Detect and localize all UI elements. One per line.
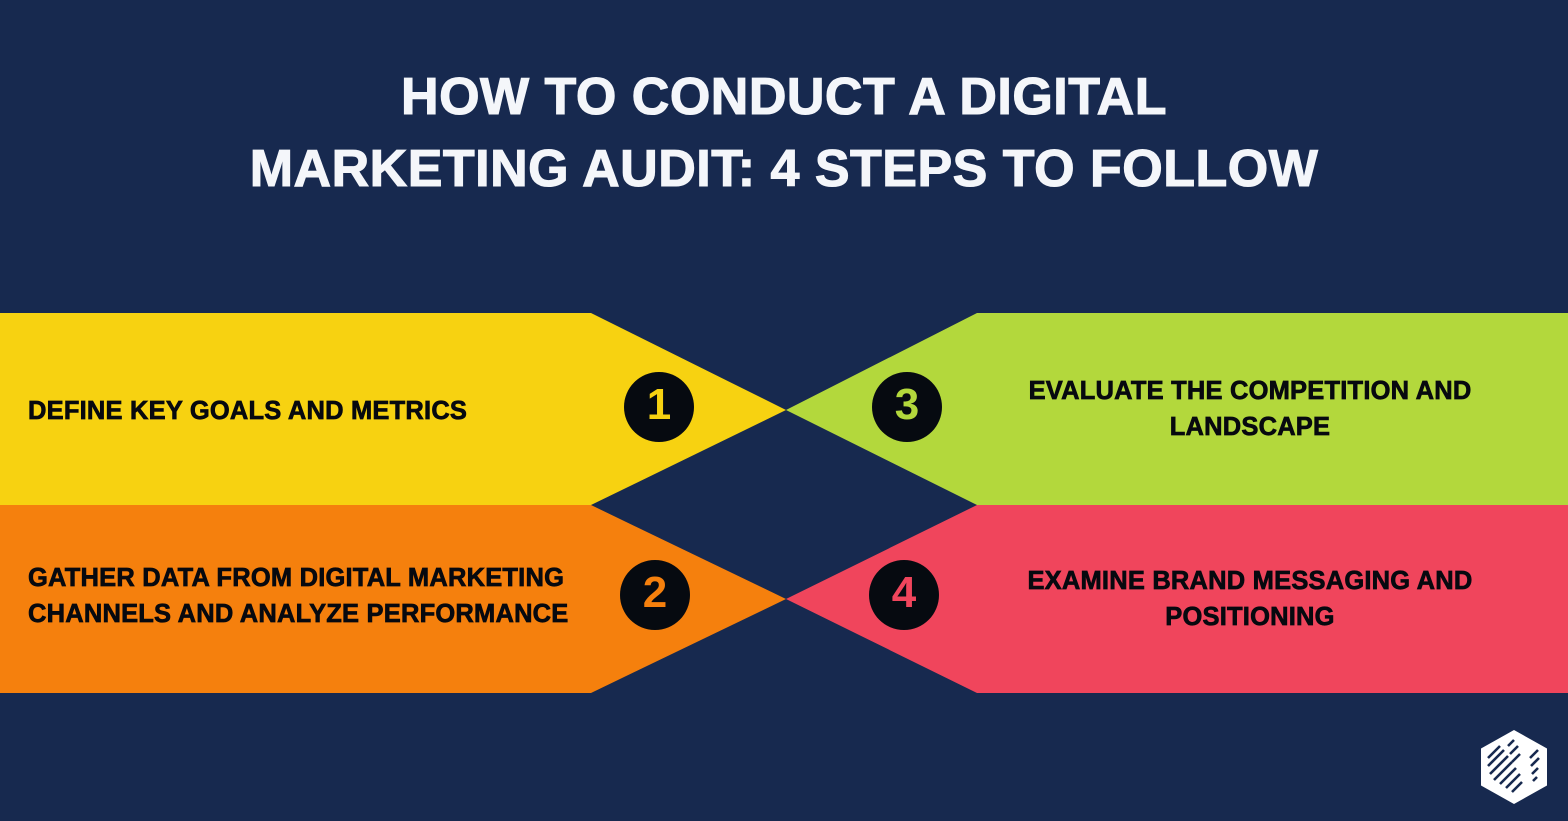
step-3-number-badge: 3 — [872, 372, 942, 442]
step-3-label: EVALUATE THE COMPETITION AND LANDSCAPE — [970, 373, 1530, 445]
step-1-number-badge: 1 — [624, 372, 694, 442]
step-3-label-line-1: EVALUATE THE COMPETITION AND — [970, 373, 1530, 409]
step-3-number: 3 — [895, 383, 919, 427]
step-4-label-line-1: EXAMINE BRAND MESSAGING AND — [970, 563, 1530, 599]
step-2-number: 2 — [643, 571, 667, 615]
step-4-label: EXAMINE BRAND MESSAGING AND POSITIONING — [970, 563, 1530, 635]
step-4-number: 4 — [892, 571, 916, 615]
step-2-label: GATHER DATA FROM DIGITAL MARKETING CHANN… — [28, 560, 620, 632]
step-4-number-badge: 4 — [869, 560, 939, 630]
step-2-label-line-2: CHANNELS AND ANALYZE PERFORMANCE — [28, 596, 620, 632]
step-1-number: 1 — [647, 383, 671, 427]
infographic-canvas: HOW TO CONDUCT A DIGITAL MARKETING AUDIT… — [0, 0, 1568, 821]
hexagon-logo — [1478, 728, 1550, 806]
step-1-label-line-1: DEFINE KEY GOALS AND METRICS — [28, 393, 620, 429]
step-2-label-line-1: GATHER DATA FROM DIGITAL MARKETING — [28, 560, 620, 596]
step-4-label-line-2: POSITIONING — [970, 599, 1530, 635]
step-3-label-line-2: LANDSCAPE — [970, 409, 1530, 445]
step-1-label: DEFINE KEY GOALS AND METRICS — [28, 393, 620, 429]
step-2-number-badge: 2 — [620, 560, 690, 630]
